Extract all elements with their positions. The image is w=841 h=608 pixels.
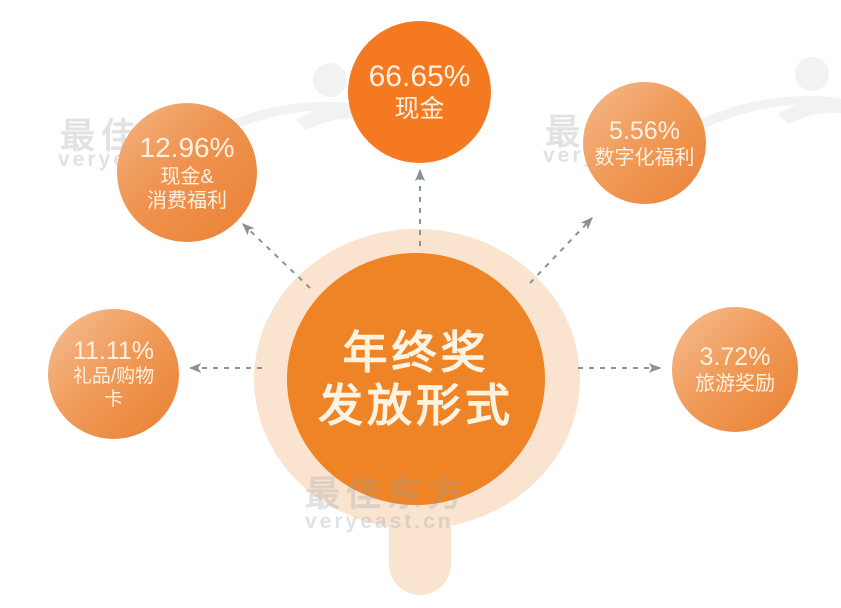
bubble-gift-card: 11.11% 礼品/购物 卡 bbox=[48, 309, 179, 439]
connector-to-digital-benefit bbox=[530, 218, 592, 283]
bubble-cash-percent: 66.65% bbox=[369, 60, 471, 95]
bubble-gift-card-percent: 11.11% bbox=[73, 337, 154, 366]
bubble-travel-reward-label: 旅游奖励 bbox=[695, 372, 775, 396]
bubble-digital-benefit: 5.56% 数字化福利 bbox=[583, 82, 706, 204]
bubble-cash-consumption-percent: 12.96% bbox=[140, 132, 235, 164]
bubble-cash-consumption-label-1: 现金& bbox=[160, 165, 213, 189]
bubble-digital-benefit-label: 数字化福利 bbox=[595, 146, 695, 170]
bubble-travel-reward-percent: 3.72% bbox=[700, 343, 771, 372]
infographic-canvas: 最佳东方 veryeast.cn 最佳东方 veryeast.cn 最佳东方 v… bbox=[0, 0, 841, 608]
center-hub-line1: 年终奖 bbox=[342, 326, 489, 379]
center-hub-line2: 发放形式 bbox=[318, 379, 514, 432]
bubble-travel-reward: 3.72% 旅游奖励 bbox=[672, 307, 798, 432]
bubble-digital-benefit-percent: 5.56% bbox=[609, 117, 680, 146]
bubble-gift-card-label-2: 卡 bbox=[104, 389, 123, 412]
bubble-cash-consumption-label-2: 消费福利 bbox=[147, 189, 227, 213]
center-hub: 年终奖 发放形式 bbox=[287, 253, 545, 505]
bubble-gift-card-label-1: 礼品/购物 bbox=[73, 366, 154, 389]
bubble-cash-label: 现金 bbox=[394, 94, 444, 124]
bubble-cash-consumption: 12.96% 现金& 消费福利 bbox=[117, 103, 257, 242]
bubble-cash: 66.65% 现金 bbox=[348, 21, 491, 163]
